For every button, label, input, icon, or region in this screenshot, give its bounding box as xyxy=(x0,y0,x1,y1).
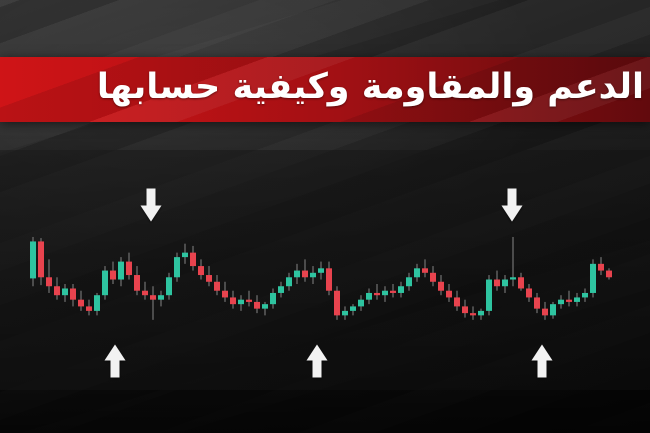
candle-body-bullish xyxy=(30,241,36,278)
candle-body-bearish xyxy=(446,291,452,298)
candle-body-bearish xyxy=(150,295,156,299)
candle xyxy=(334,286,340,320)
candle-body-bearish xyxy=(462,306,468,313)
candle-wick xyxy=(152,286,153,320)
candle-body-bullish xyxy=(174,257,180,277)
candle-body-bullish xyxy=(294,271,300,278)
candle xyxy=(486,275,492,315)
candle-body-bullish xyxy=(270,293,276,304)
candle-body-bullish xyxy=(558,300,564,304)
page-title: الدعم والمقاومة وكيفية حسابها xyxy=(97,70,650,109)
candle-body-bullish xyxy=(310,273,316,277)
candle-body-bearish xyxy=(70,288,76,299)
candle-body-bearish xyxy=(598,264,604,271)
candle-body-bullish xyxy=(486,280,492,311)
candle-body-bearish xyxy=(606,271,612,278)
plot-background xyxy=(0,150,650,390)
candle-body-bullish xyxy=(286,277,292,286)
candle-body-bearish xyxy=(422,268,428,272)
candle xyxy=(590,259,596,297)
candle-body-bullish xyxy=(382,291,388,295)
candle-body-bullish xyxy=(94,295,100,311)
chart-svg xyxy=(0,150,650,390)
candle-body-bearish xyxy=(86,306,92,310)
candle-body-bullish xyxy=(366,293,372,300)
candle-body-bullish xyxy=(398,286,404,293)
candle-body-bearish xyxy=(38,241,44,277)
candle-wick xyxy=(48,259,49,293)
candle-body-bullish xyxy=(414,268,420,277)
candle-body-bullish xyxy=(510,277,516,279)
candle-body-bullish xyxy=(342,311,348,315)
candle-body-bearish xyxy=(142,291,148,295)
candle-wick xyxy=(376,284,377,300)
candle-body-bearish xyxy=(214,282,220,291)
candle-body-bearish xyxy=(190,253,196,266)
candle-body-bullish xyxy=(158,295,164,299)
candle-body-bearish xyxy=(334,291,340,316)
candle-wick xyxy=(248,291,249,307)
candle-body-bearish xyxy=(374,293,380,295)
candle-wick xyxy=(568,291,569,307)
candlestick-chart xyxy=(0,150,650,390)
title-banner: الدعم والمقاومة وكيفية حسابها xyxy=(0,57,650,122)
candle xyxy=(102,266,108,300)
candle-body-bearish xyxy=(230,297,236,304)
candle-body-bearish xyxy=(542,309,548,316)
candle-body-bullish xyxy=(590,264,596,293)
candle-body-bearish xyxy=(302,271,308,278)
candle-body-bullish xyxy=(238,300,244,304)
candle-body-bearish xyxy=(246,300,252,302)
candle-body-bearish xyxy=(390,291,396,293)
candle-body-bearish xyxy=(54,286,60,295)
candle-body-bullish xyxy=(478,311,484,315)
candle-body-bearish xyxy=(326,268,332,290)
candle-body-bearish xyxy=(470,313,476,315)
candle-body-bearish xyxy=(126,262,132,275)
candle-body-bearish xyxy=(454,297,460,306)
candle-body-bearish xyxy=(438,282,444,291)
candle-body-bearish xyxy=(430,273,436,282)
candle-body-bearish xyxy=(566,300,572,302)
candle-body-bullish xyxy=(278,286,284,293)
candle-body-bearish xyxy=(134,275,140,291)
candle-body-bullish xyxy=(318,268,324,272)
candle-body-bullish xyxy=(182,253,188,257)
candle-body-bearish xyxy=(518,277,524,288)
candle-body-bearish xyxy=(198,266,204,275)
candle-body-bearish xyxy=(110,271,116,280)
candle-body-bullish xyxy=(582,293,588,297)
candle-body-bullish xyxy=(350,306,356,310)
candle-body-bearish xyxy=(534,297,540,308)
candle-body-bullish xyxy=(102,271,108,296)
candle-body-bullish xyxy=(358,300,364,307)
candle-body-bearish xyxy=(222,291,228,298)
candle-body-bearish xyxy=(254,302,260,309)
candle-body-bullish xyxy=(118,262,124,280)
candle-body-bullish xyxy=(574,297,580,301)
candle-body-bearish xyxy=(46,277,52,286)
candle-body-bearish xyxy=(526,288,532,297)
candle-body-bullish xyxy=(62,288,68,295)
candle-body-bullish xyxy=(166,277,172,295)
candle-body-bullish xyxy=(502,280,508,287)
candle-body-bearish xyxy=(206,275,212,282)
candle-body-bearish xyxy=(78,300,84,307)
candle-body-bullish xyxy=(406,277,412,286)
candle-body-bearish xyxy=(494,280,500,287)
candle-body-bullish xyxy=(262,304,268,308)
thumbnail-canvas: الدعم والمقاومة وكيفية حسابها xyxy=(0,0,650,433)
candle-body-bullish xyxy=(550,304,556,315)
